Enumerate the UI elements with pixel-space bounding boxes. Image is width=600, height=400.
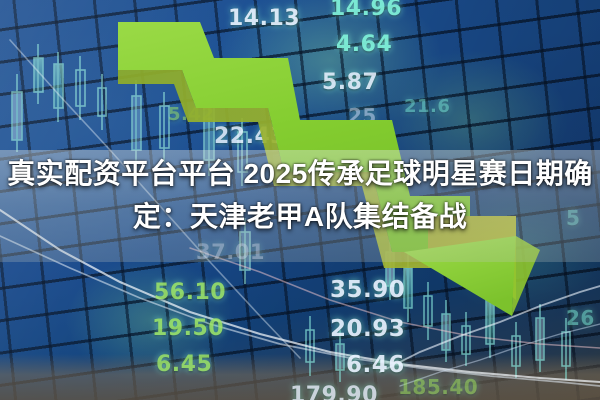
headline-line-2: 定：天津老甲A队集结备战 bbox=[0, 195, 600, 238]
stock-market-banner: 14.1314.964.645.875.435.4221.62522.439.0… bbox=[0, 0, 600, 400]
headline-line-1: 真实配资平台平台 2025传承足球明星赛日期确 bbox=[0, 152, 600, 195]
page-title: 真实配资平台平台 2025传承足球明星赛日期确 定：天津老甲A队集结备战 bbox=[0, 152, 600, 238]
